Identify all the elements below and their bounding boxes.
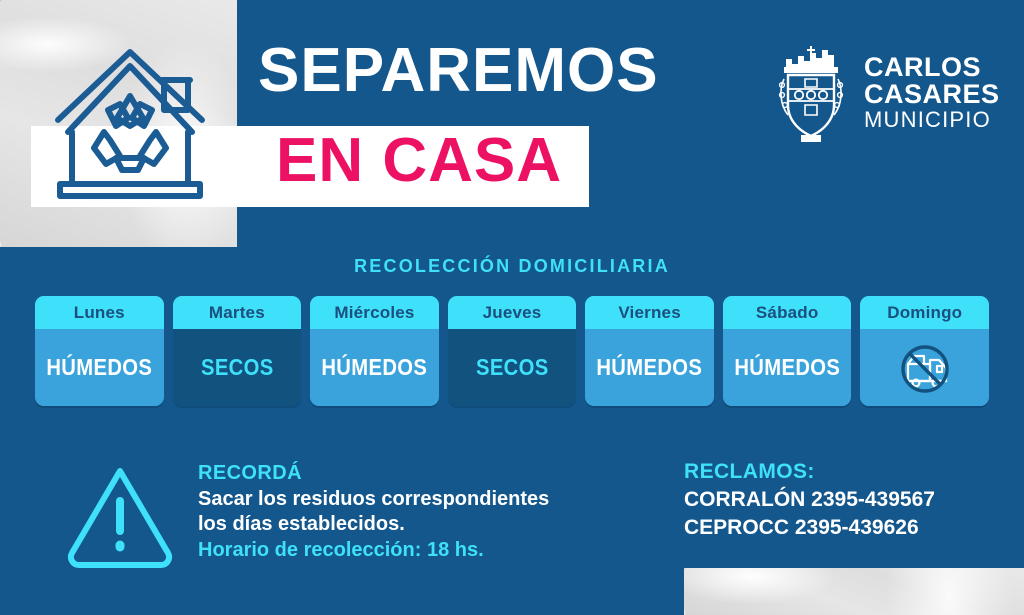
waste-type-jueves: SECOS xyxy=(455,329,568,406)
municipality-logo-text: CARLOS CASARES MUNICIPIO xyxy=(864,54,1000,130)
paper-texture-bottom-right xyxy=(684,568,1024,615)
reminder-body-line-2: los días establecidos. xyxy=(198,512,549,538)
reminder-text-block: RECORDÁ Sacar los residuos correspondien… xyxy=(198,455,549,563)
claims-phone-ceprocc: CEPROCC 2395-439626 xyxy=(684,514,935,542)
logo-line-3: MUNICIPIO xyxy=(864,109,1000,131)
headline: SEPAREMOS EN CASA xyxy=(258,40,778,102)
waste-type-domingo xyxy=(860,329,989,406)
headline-line-2: EN CASA xyxy=(276,130,562,192)
day-name-lunes: Lunes xyxy=(35,296,164,329)
day-name-miercoles: Miércoles xyxy=(310,296,439,329)
waste-type-viernes: HÚMEDOS xyxy=(593,329,706,406)
day-name-sabado: Sábado xyxy=(723,296,852,329)
logo-line-2: CASARES xyxy=(864,81,1000,107)
poster-canvas: SEPAREMOS EN CASA xyxy=(0,0,1024,615)
day-name-martes: Martes xyxy=(173,296,302,329)
claims-heading: RECLAMOS: xyxy=(684,458,935,486)
warning-triangle-icon xyxy=(64,461,176,569)
section-title: RECOLECCIÓN DOMICILIARIA xyxy=(0,256,1024,277)
coat-of-arms-icon xyxy=(770,43,852,143)
waste-type-miercoles: HÚMEDOS xyxy=(318,329,431,406)
day-card-miercoles[interactable]: Miércoles HÚMEDOS xyxy=(310,296,439,406)
reminder-heading: RECORDÁ xyxy=(198,461,549,487)
waste-type-lunes: HÚMEDOS xyxy=(43,329,156,406)
claims-phone-corralon: CORRALÓN 2395-439567 xyxy=(684,486,935,514)
weekly-schedule: Lunes HÚMEDOS Martes SECOS Miércoles HÚM… xyxy=(35,296,989,406)
reminder-schedule-line: Horario de recolección: 18 hs. xyxy=(198,538,549,564)
day-card-martes[interactable]: Martes SECOS xyxy=(173,296,302,406)
day-card-domingo[interactable]: Domingo xyxy=(860,296,989,406)
no-garbage-truck-icon xyxy=(895,338,955,398)
day-card-lunes[interactable]: Lunes HÚMEDOS xyxy=(35,296,164,406)
day-card-viernes[interactable]: Viernes HÚMEDOS xyxy=(585,296,714,406)
house-recycle-icon xyxy=(46,36,214,204)
reminder-notice: RECORDÁ Sacar los residuos correspondien… xyxy=(64,455,549,569)
logo-line-1: CARLOS xyxy=(864,54,1000,80)
waste-type-sabado: HÚMEDOS xyxy=(731,329,844,406)
municipality-logo: CARLOS CASARES MUNICIPIO xyxy=(770,40,1000,145)
day-card-sabado[interactable]: Sábado HÚMEDOS xyxy=(723,296,852,406)
day-name-jueves: Jueves xyxy=(448,296,577,329)
day-name-domingo: Domingo xyxy=(860,296,989,329)
day-card-jueves[interactable]: Jueves SECOS xyxy=(448,296,577,406)
waste-type-martes: SECOS xyxy=(180,329,293,406)
reminder-body-line-1: Sacar los residuos correspondientes xyxy=(198,487,549,513)
day-name-viernes: Viernes xyxy=(585,296,714,329)
claims-block: RECLAMOS: CORRALÓN 2395-439567 CEPROCC 2… xyxy=(684,458,935,542)
headline-line-1: SEPAREMOS xyxy=(258,40,778,102)
